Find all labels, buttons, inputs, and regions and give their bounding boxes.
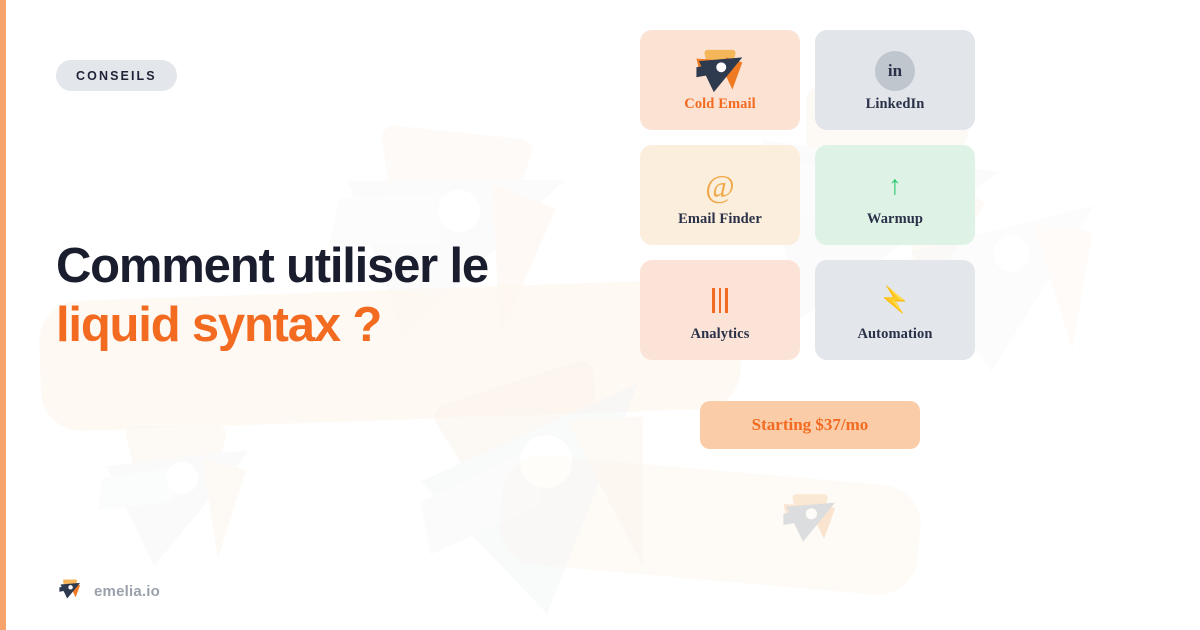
bar-chart-bars bbox=[712, 288, 728, 313]
headline-line-1: Comment utiliser le bbox=[56, 239, 488, 293]
og-card-canvas: CONSEILS Comment utiliser le liquid synt… bbox=[0, 0, 1200, 630]
feature-card-email-finder[interactable]: @ Email Finder bbox=[640, 145, 800, 245]
pricing-cta-label: Starting $37/mo bbox=[752, 415, 869, 435]
feature-card-label: Warmup bbox=[867, 211, 923, 228]
lightning-bolt-glyph: ⚡ bbox=[879, 288, 910, 313]
brand-name: emelia.io bbox=[94, 583, 160, 600]
pricing-cta-button[interactable]: Starting $37/mo bbox=[700, 401, 920, 449]
brand-footer: emelia.io bbox=[56, 575, 160, 608]
category-badge-label: CONSEILS bbox=[76, 69, 157, 83]
feature-card-label: Email Finder bbox=[678, 211, 762, 228]
linkedin-in-glyph: in bbox=[875, 51, 915, 91]
decorative-emelia-paper-plane-icon bbox=[775, 483, 845, 558]
feature-card-label: Automation bbox=[857, 326, 932, 343]
headline-line-2: liquid syntax ? bbox=[56, 296, 656, 355]
feature-card-label: Analytics bbox=[691, 326, 750, 343]
emelia-paper-plane-icon bbox=[56, 575, 84, 608]
feature-grid: Cold Email in LinkedIn @ Email Finder ↑ … bbox=[640, 30, 975, 360]
left-accent-stripe bbox=[0, 0, 6, 630]
page-title: Comment utiliser le liquid syntax ? bbox=[56, 237, 656, 355]
feature-card-linkedin[interactable]: in LinkedIn bbox=[815, 30, 975, 130]
emelia-paper-plane-icon bbox=[689, 48, 751, 94]
arrow-up-glyph: ↑ bbox=[888, 172, 902, 199]
bar-chart-icon bbox=[712, 278, 728, 324]
feature-card-cold-email[interactable]: Cold Email bbox=[640, 30, 800, 130]
at-sign-icon: @ bbox=[705, 163, 734, 209]
linkedin-in-icon: in bbox=[875, 48, 915, 94]
left-content-column: CONSEILS Comment utiliser le liquid synt… bbox=[56, 0, 656, 630]
feature-card-label: LinkedIn bbox=[866, 96, 925, 113]
feature-card-label: Cold Email bbox=[684, 96, 756, 113]
lightning-bolt-icon: ⚡ bbox=[879, 278, 910, 324]
feature-card-warmup[interactable]: ↑ Warmup bbox=[815, 145, 975, 245]
at-glyph: @ bbox=[705, 170, 734, 202]
feature-card-analytics[interactable]: Analytics bbox=[640, 260, 800, 360]
arrow-up-icon: ↑ bbox=[888, 163, 902, 209]
feature-card-automation[interactable]: ⚡ Automation bbox=[815, 260, 975, 360]
category-badge: CONSEILS bbox=[56, 60, 177, 91]
